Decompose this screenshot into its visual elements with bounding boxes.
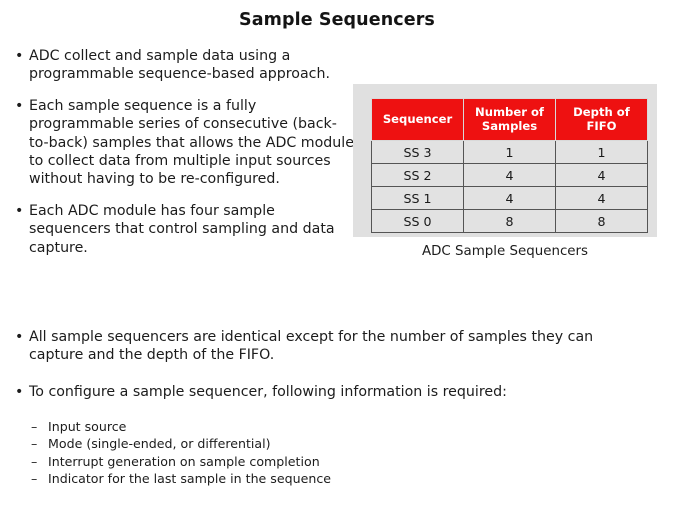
bullet-item-inner: • To configure a sample sequencer, follo… bbox=[14, 383, 644, 401]
sub-bullet-text: Indicator for the last sample in the seq… bbox=[48, 471, 331, 486]
sub-bullet-text: Input source bbox=[48, 419, 126, 434]
bullet-marker-icon: • bbox=[15, 383, 23, 401]
table-row: SS 2 4 4 bbox=[372, 164, 648, 187]
sub-bullet-text: Mode (single-ended, or differential) bbox=[48, 436, 271, 451]
bullet-list-left: • ADC collect and sample data using a pr… bbox=[14, 47, 354, 257]
table-cell: SS 0 bbox=[372, 210, 464, 233]
header-line: Depth of bbox=[573, 105, 630, 119]
table-header-cell-depth-of-fifo: Depth of FIFO bbox=[556, 99, 648, 141]
table-row: SS 1 4 4 bbox=[372, 187, 648, 210]
page-title: Sample Sequencers bbox=[0, 10, 674, 30]
figure-panel: Sequencer Number of Samples Depth of FIF… bbox=[353, 84, 657, 237]
bullet-text: To configure a sample sequencer, followi… bbox=[29, 384, 507, 400]
bullet-marker-icon: • bbox=[15, 47, 23, 65]
table-cell: SS 2 bbox=[372, 164, 464, 187]
dash-marker-icon: – bbox=[31, 435, 37, 452]
bullet-text: Each ADC module has four sample sequence… bbox=[29, 203, 335, 256]
dash-marker-icon: – bbox=[31, 418, 37, 435]
bullet-text: Each sample sequence is a fully programm… bbox=[29, 98, 354, 188]
bullet-text: All sample sequencers are identical exce… bbox=[29, 329, 593, 363]
table-row: SS 0 8 8 bbox=[372, 210, 648, 233]
dash-marker-icon: – bbox=[31, 470, 37, 487]
header-line: Sequencer bbox=[383, 112, 452, 126]
figure-caption: ADC Sample Sequencers bbox=[353, 244, 657, 259]
sub-bullet-item: – Indicator for the last sample in the s… bbox=[31, 470, 591, 487]
bullet-marker-icon: • bbox=[15, 202, 23, 220]
sub-bullet-list: – Input source – Mode (single-ended, or … bbox=[31, 418, 591, 487]
bullet-item: • Each sample sequence is a fully progra… bbox=[14, 97, 354, 189]
table-cell: 8 bbox=[464, 210, 556, 233]
bullet-marker-icon: • bbox=[15, 328, 23, 346]
table-cell: 1 bbox=[464, 141, 556, 164]
table-cell: 4 bbox=[464, 164, 556, 187]
table-row: SS 3 1 1 bbox=[372, 141, 648, 164]
sub-bullet-item: – Interrupt generation on sample complet… bbox=[31, 453, 591, 470]
header-line: Samples bbox=[482, 119, 537, 133]
table-cell: 8 bbox=[556, 210, 648, 233]
header-line: Number of bbox=[475, 105, 544, 119]
table-cell: 4 bbox=[556, 164, 648, 187]
table-cell: 4 bbox=[464, 187, 556, 210]
bullet-marker-icon: • bbox=[15, 97, 23, 115]
bullet-item: • Each ADC module has four sample sequen… bbox=[14, 202, 354, 257]
bullet-item: • To configure a sample sequencer, follo… bbox=[14, 383, 644, 401]
dash-marker-icon: – bbox=[31, 453, 37, 470]
bullet-item-inner: • All sample sequencers are identical ex… bbox=[14, 328, 644, 365]
bullet-item: • All sample sequencers are identical ex… bbox=[14, 328, 644, 365]
sub-bullet-item: – Mode (single-ended, or differential) bbox=[31, 435, 591, 452]
header-line: FIFO bbox=[586, 119, 616, 133]
table-cell: 1 bbox=[556, 141, 648, 164]
table-header-cell-number-of-samples: Number of Samples bbox=[464, 99, 556, 141]
table-cell: 4 bbox=[556, 187, 648, 210]
sequencer-table: Sequencer Number of Samples Depth of FIF… bbox=[371, 98, 648, 233]
sub-bullet-text: Interrupt generation on sample completio… bbox=[48, 454, 320, 469]
table-header-row: Sequencer Number of Samples Depth of FIF… bbox=[372, 99, 648, 141]
bullet-text: ADC collect and sample data using a prog… bbox=[29, 48, 330, 82]
sub-bullet-item: – Input source bbox=[31, 418, 591, 435]
bullet-item: • ADC collect and sample data using a pr… bbox=[14, 47, 354, 84]
table-cell: SS 3 bbox=[372, 141, 464, 164]
table-header-cell-sequencer: Sequencer bbox=[372, 99, 464, 141]
table-cell: SS 1 bbox=[372, 187, 464, 210]
